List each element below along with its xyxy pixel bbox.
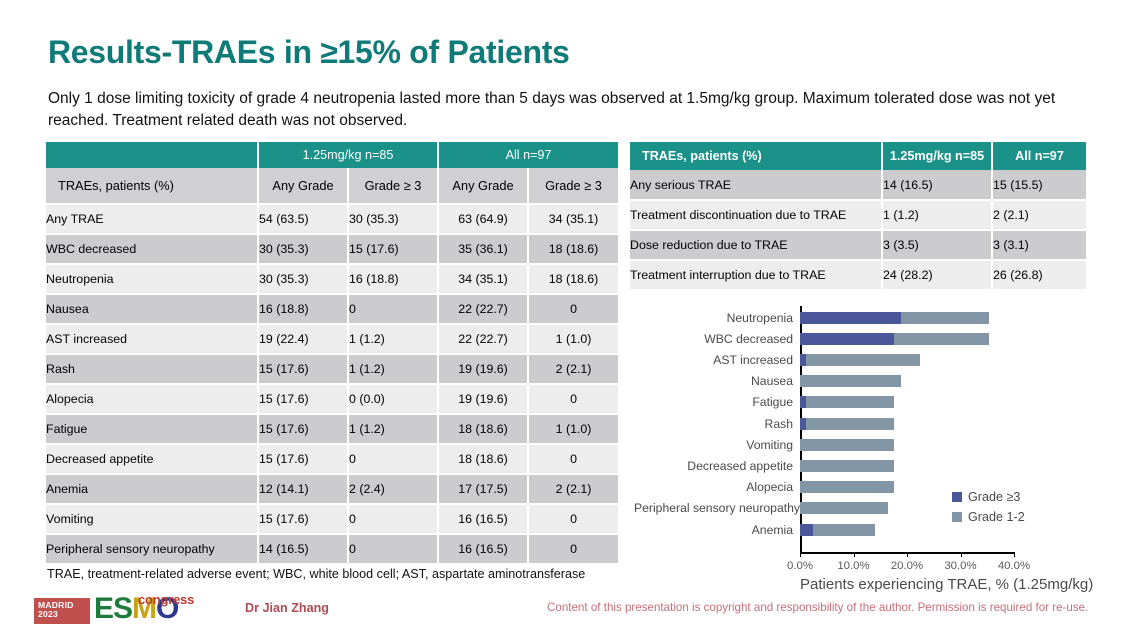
serious-trae-value-cell: 3 (3.1) [992,230,1086,260]
trae-value-cell: 15 (17.6) [258,414,348,444]
group-header-blank [46,142,258,168]
chart-bar-segment [800,481,894,493]
table-row: Fatigue15 (17.6)1 (1.2)18 (18.6)1 (1.0) [46,414,618,444]
chart-bar-segment [806,396,894,408]
trae-value-cell: 0 [528,294,618,324]
trae-value-cell: 30 (35.3) [258,234,348,264]
chart-bar-segment [813,524,876,536]
trae-value-cell: 2 (2.1) [528,354,618,384]
chart-stacked-bar [800,460,894,472]
table-row: Neutropenia30 (35.3)16 (18.8)34 (35.1)18… [46,264,618,294]
right-column-header-all: All n=97 [992,142,1086,170]
serious-trae-value-cell: 2 (2.1) [992,200,1086,230]
trae-value-cell: 17 (17.5) [438,474,528,504]
legend-item: Grade 1-2 [952,510,1025,524]
right-column-header-trae: TRAEs, patients (%) [630,142,882,170]
trae-value-cell: 34 (35.1) [528,204,618,234]
trae-value-cell: 0 [528,504,618,534]
chart-stacked-bar [800,354,920,366]
trae-value-cell: 16 (16.5) [438,504,528,534]
trae-name-cell: Peripheral sensory neuropathy [46,534,258,564]
trae-bar-chart: NeutropeniaWBC decreasedAST increasedNau… [634,304,1094,594]
chart-category-label: Decreased appetite [634,459,800,473]
column-header-grade3-all: Grade ≥ 3 [528,168,618,204]
column-header-any-grade-dose: Any Grade [258,168,348,204]
table-column-header-row: TRAEs, patients (%) Any Grade Grade ≥ 3 … [46,168,618,204]
table-group-header-row: 1.25mg/kg n=85 All n=97 [46,142,618,168]
chart-category-row: Neutropenia [634,307,1094,328]
trae-value-cell: 16 (18.8) [348,264,438,294]
chart-bar-segment [806,418,894,430]
serious-trae-value-cell: 3 (3.5) [882,230,992,260]
chart-bar-segment [800,439,894,451]
x-axis-tick [800,552,801,557]
trae-name-cell: Rash [46,354,258,384]
legend-item: Grade ≥3 [952,490,1025,504]
trae-name-cell: Vomiting [46,504,258,534]
serious-trae-value-cell: 1 (1.2) [882,200,992,230]
chart-category-label: Rash [634,417,800,431]
trae-value-cell: 18 (18.6) [438,414,528,444]
chart-category-row: Peripheral sensory neuropathy [634,498,1094,519]
trae-value-cell: 15 (17.6) [258,384,348,414]
trae-value-cell: 0 [348,294,438,324]
trae-value-cell: 18 (18.6) [528,264,618,294]
table-row: Treatment discontinuation due to TRAE1 (… [630,200,1086,230]
chart-stacked-bar [800,312,989,324]
chart-bar-track [800,519,1094,540]
x-axis-tick-label: 10.0% [837,560,869,572]
chart-stacked-bar [800,333,989,345]
column-header-any-grade-all: Any Grade [438,168,528,204]
legend-swatch [952,492,962,502]
x-axis-tick [1014,552,1015,557]
chart-stacked-bar [800,375,901,387]
trae-value-cell: 63 (64.9) [438,204,528,234]
x-axis-title: Patients experiencing TRAE, % (1.25mg/kg… [800,576,1014,593]
chart-category-label: Peripheral sensory neuropathy [634,501,800,515]
chart-category-row: Rash [634,413,1094,434]
chart-bar-segment [800,312,901,324]
legend-label: Grade 1-2 [968,510,1025,524]
table-row: Vomiting15 (17.6)016 (16.5)0 [46,504,618,534]
serious-trae-value-cell: 14 (16.5) [882,170,992,200]
serious-trae-name-cell: Treatment discontinuation due to TRAE [630,200,882,230]
slide-subtitle: Only 1 dose limiting toxicity of grade 4… [48,88,1093,132]
trae-value-cell: 54 (63.5) [258,204,348,234]
chart-bar-track [800,328,1094,349]
trae-value-cell: 30 (35.3) [258,264,348,294]
chart-stacked-bar [800,481,894,493]
chart-plot-area: NeutropeniaWBC decreasedAST increasedNau… [634,304,1094,552]
trae-value-cell: 2 (2.1) [528,474,618,504]
serious-trae-table: TRAEs, patients (%) 1.25mg/kg n=85 All n… [630,142,1086,291]
trae-value-cell: 1 (1.0) [528,414,618,444]
trae-value-cell: 12 (14.1) [258,474,348,504]
chart-category-row: Vomiting [634,434,1094,455]
chart-bar-segment [800,460,894,472]
trae-name-cell: Nausea [46,294,258,324]
chart-bar-track [800,349,1094,370]
trae-value-cell: 19 (22.4) [258,324,348,354]
serious-trae-value-cell: 26 (26.8) [992,260,1086,290]
trae-name-cell: AST increased [46,324,258,354]
chart-bar-track [800,477,1094,498]
trae-value-cell: 15 (17.6) [258,444,348,474]
legend-swatch [952,512,962,522]
trae-value-cell: 1 (1.2) [348,414,438,444]
trae-value-cell: 16 (18.8) [258,294,348,324]
chart-bar-segment [800,502,888,514]
serious-trae-value-cell: 24 (28.2) [882,260,992,290]
trae-value-cell: 22 (22.7) [438,294,528,324]
table-row: Any TRAE54 (63.5)30 (35.3)63 (64.9)34 (3… [46,204,618,234]
madrid-2023-badge: MADRID 2023 [34,598,90,624]
trae-value-cell: 0 [528,444,618,474]
trae-name-cell: Anemia [46,474,258,504]
table-row: Anemia12 (14.1)2 (2.4)17 (17.5)2 (2.1) [46,474,618,504]
chart-bar-track [800,307,1094,328]
chart-stacked-bar [800,502,888,514]
chart-bar-segment [800,375,901,387]
serious-trae-name-cell: Any serious TRAE [630,170,882,200]
table-footnote: TRAE, treatment-related adverse event; W… [47,567,585,581]
chart-stacked-bar [800,524,875,536]
trae-value-cell: 18 (18.6) [438,444,528,474]
table-row: Peripheral sensory neuropathy14 (16.5)01… [46,534,618,564]
chart-bar-track [800,371,1094,392]
chart-bar-track [800,413,1094,434]
trae-name-cell: Neutropenia [46,264,258,294]
chart-category-row: Alopecia [634,477,1094,498]
chart-bar-segment [806,354,919,366]
chart-category-label: Fatigue [634,395,800,409]
trae-value-cell: 0 [348,504,438,534]
trae-value-cell: 34 (35.1) [438,264,528,294]
x-axis-tick [854,552,855,557]
chart-bar-segment [800,333,894,345]
table-row: Dose reduction due to TRAE3 (3.5)3 (3.1) [630,230,1086,260]
right-table-header-row: TRAEs, patients (%) 1.25mg/kg n=85 All n… [630,142,1086,170]
trae-value-cell: 0 (0.0) [348,384,438,414]
table-row: Rash15 (17.6)1 (1.2)19 (19.6)2 (2.1) [46,354,618,384]
year-label: 2023 [38,610,90,619]
trae-name-cell: WBC decreased [46,234,258,264]
chart-category-label: AST increased [634,353,800,367]
group-header-all: All n=97 [438,142,618,168]
table-row: Decreased appetite15 (17.6)018 (18.6)0 [46,444,618,474]
table-row: WBC decreased30 (35.3)15 (17.6)35 (36.1)… [46,234,618,264]
trae-value-cell: 16 (16.5) [438,534,528,564]
chart-bar-segment [800,524,813,536]
chart-category-label: Nausea [634,374,800,388]
x-axis-tick [961,552,962,557]
chart-bar-segment [901,312,989,324]
trae-value-cell: 19 (19.6) [438,384,528,414]
chart-category-label: WBC decreased [634,332,800,346]
trae-name-cell: Fatigue [46,414,258,444]
table-row: Any serious TRAE14 (16.5)15 (15.5) [630,170,1086,200]
chart-bar-track [800,455,1094,476]
chart-bar-segment [894,333,989,345]
congress-label: congress [138,592,194,607]
chart-legend: Grade ≥3Grade 1-2 [952,490,1025,530]
trae-value-cell: 0 [348,444,438,474]
chart-category-label: Anemia [634,523,800,537]
trae-incidence-table: 1.25mg/kg n=85 All n=97 TRAEs, patients … [46,142,618,565]
legend-label: Grade ≥3 [968,490,1020,504]
table-row: Treatment interruption due to TRAE24 (28… [630,260,1086,290]
trae-value-cell: 18 (18.6) [528,234,618,264]
chart-bar-track [800,434,1094,455]
group-header-dose: 1.25mg/kg n=85 [258,142,438,168]
chart-category-row: Anemia [634,519,1094,540]
chart-stacked-bar [800,418,894,430]
chart-category-label: Vomiting [634,438,800,452]
trae-value-cell: 0 [348,534,438,564]
trae-value-cell: 35 (36.1) [438,234,528,264]
table-row: Nausea16 (18.8)022 (22.7)0 [46,294,618,324]
trae-value-cell: 15 (17.6) [258,504,348,534]
chart-category-row: WBC decreased [634,328,1094,349]
presenter-name: Dr Jian Zhang [245,601,329,615]
trae-value-cell: 0 [528,534,618,564]
x-axis-tick-label: 20.0% [891,560,923,572]
x-axis-tick [907,552,908,557]
esmo-letters-es: ES [94,592,132,625]
x-axis-tick-label: 40.0% [998,560,1030,572]
serious-trae-value-cell: 15 (15.5) [992,170,1086,200]
page-title: Results-TRAEs in ≥15% of Patients [48,34,570,71]
chart-category-row: Nausea [634,371,1094,392]
trae-value-cell: 19 (19.6) [438,354,528,384]
trae-value-cell: 1 (1.2) [348,324,438,354]
trae-value-cell: 0 [528,384,618,414]
x-axis-tick-label: 30.0% [944,560,976,572]
serious-trae-name-cell: Treatment interruption due to TRAE [630,260,882,290]
chart-stacked-bar [800,396,894,408]
trae-value-cell: 22 (22.7) [438,324,528,354]
table-row: AST increased19 (22.4)1 (1.2)22 (22.7)1 … [46,324,618,354]
chart-category-row: Decreased appetite [634,455,1094,476]
trae-value-cell: 15 (17.6) [258,354,348,384]
chart-category-row: AST increased [634,349,1094,370]
copyright-notice: Content of this presentation is copyrigh… [547,601,1088,614]
chart-category-label: Neutropenia [634,311,800,325]
trae-value-cell: 1 (1.0) [528,324,618,354]
table-row: Alopecia15 (17.6)0 (0.0)19 (19.6)0 [46,384,618,414]
right-column-header-dose: 1.25mg/kg n=85 [882,142,992,170]
trae-name-cell: Any TRAE [46,204,258,234]
trae-name-cell: Alopecia [46,384,258,414]
serious-trae-name-cell: Dose reduction due to TRAE [630,230,882,260]
trae-value-cell: 14 (16.5) [258,534,348,564]
chart-category-row: Fatigue [634,392,1094,413]
x-axis-tick-label: 0.0% [787,560,813,572]
column-header-grade3-dose: Grade ≥ 3 [348,168,438,204]
trae-value-cell: 15 (17.6) [348,234,438,264]
chart-bar-track [800,498,1094,519]
chart-category-label: Alopecia [634,480,800,494]
column-header-trae: TRAEs, patients (%) [46,168,258,204]
trae-value-cell: 2 (2.4) [348,474,438,504]
trae-name-cell: Decreased appetite [46,444,258,474]
trae-value-cell: 1 (1.2) [348,354,438,384]
trae-value-cell: 30 (35.3) [348,204,438,234]
chart-stacked-bar [800,439,894,451]
chart-bar-track [800,392,1094,413]
